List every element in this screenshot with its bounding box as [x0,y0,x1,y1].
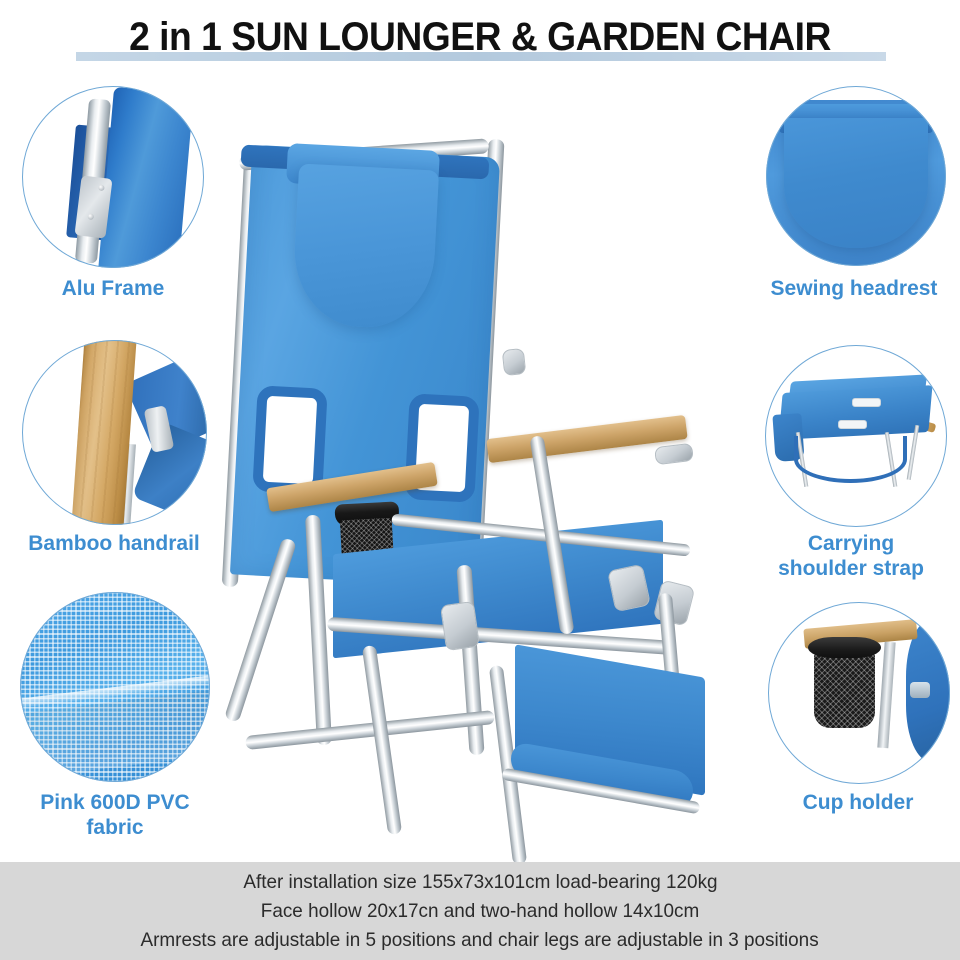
hinge-joint-backrest [502,348,527,376]
hinge-joint-seat-left [440,601,480,651]
callout-photo-sewing-headrest [766,86,946,266]
callout-photo-bamboo-handrail [22,340,207,525]
alu-fabric-light [98,86,194,268]
callout-label-sewing-headrest: Sewing headrest [746,276,960,301]
callout-photo-alu-frame [22,86,204,268]
carrying-strap-photo [765,345,947,527]
bamboo-handrail-photo [22,340,207,525]
callout-photo-pvc-fabric [20,592,210,782]
alu-rivet [98,185,105,192]
bottom-rail [245,710,495,750]
callout-photo-carrying-strap [765,345,947,527]
cup-mesh-basket [814,651,876,727]
alu-rivet [87,214,94,221]
mesh-fabric-swatch [20,592,210,782]
cup-frame-post [877,642,895,748]
spec-line-2: Face hollow 20x17cn and two-hand hollow … [261,897,699,926]
infographic-page: 2 in 1 SUN LOUNGER & GARDEN CHAIR Alu Fr… [0,0,960,960]
shoulder-strap-band [794,436,907,483]
callout-photo-cup-holder [768,602,950,784]
spec-line-1: After installation size 155x73x101cm loa… [243,868,717,897]
strap-hand-hollow [852,398,881,407]
strap-leg [906,425,918,480]
title-underline-bar [76,52,886,61]
headrest-flap [784,118,928,248]
cup-adjuster-knob [910,682,930,698]
callout-label-bamboo-handrail: Bamboo handrail [0,531,228,556]
spec-line-3: Armrests are adjustable in 5 positions a… [141,926,819,955]
armrest-adjust-notches-right [654,443,694,465]
callout-label-pvc-fabric: Pink 600D PVC fabric [15,790,215,840]
headrest-photo [766,86,946,266]
callout-label-carrying-strap: Carrying shoulder strap [742,531,960,581]
callout-label-cup-holder: Cup holder [760,790,956,815]
cup-rim [808,637,881,659]
product-image-chair [215,105,760,850]
strap-hand-hollow [838,420,867,429]
leg-extension [362,645,402,835]
callout-label-alu-frame: Alu Frame [13,276,213,301]
alu-frame-photo [22,86,204,268]
cup-holder-photo [768,602,950,784]
specification-band: After installation size 155x73x101cm loa… [0,862,960,960]
hand-hollow-left [252,385,327,495]
